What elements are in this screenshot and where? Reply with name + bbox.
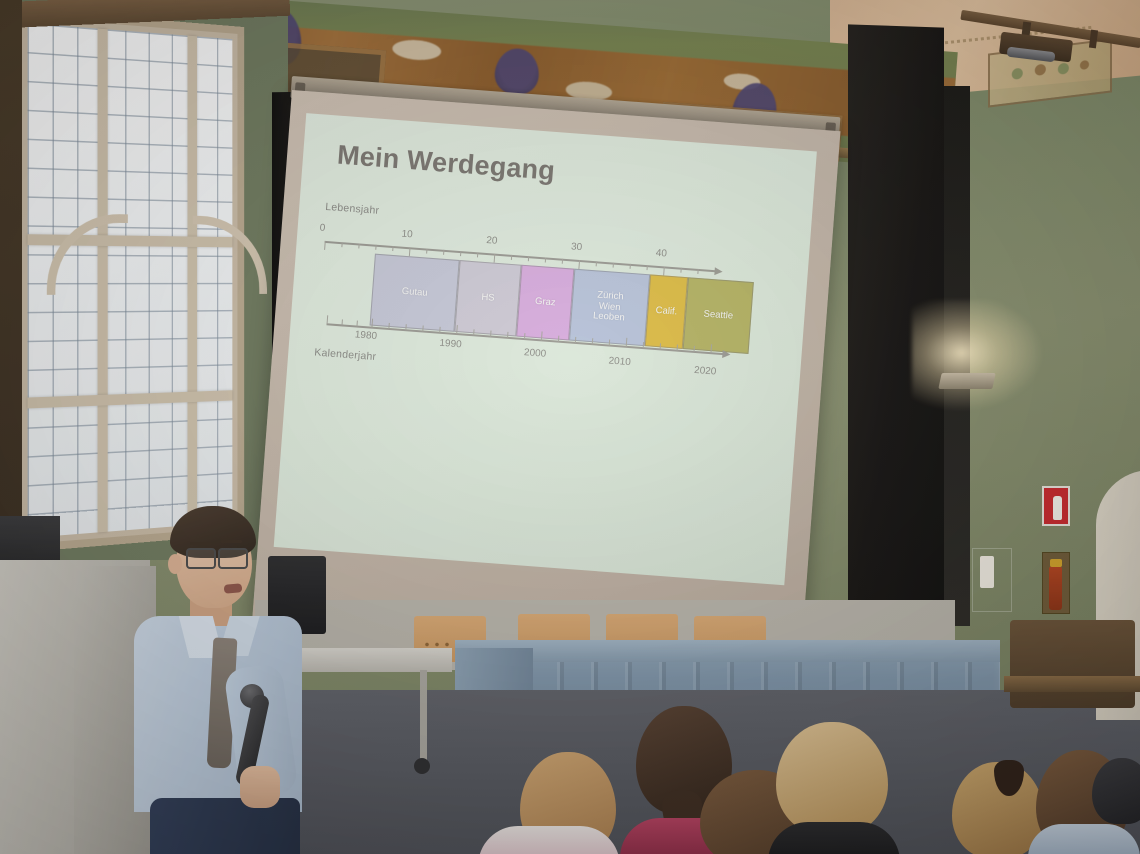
speaker [128, 498, 328, 854]
top-axis-tick-20 [494, 254, 496, 263]
top-axis-minor-tick [562, 259, 564, 264]
top-axis-tick-10 [409, 247, 411, 256]
top-axis-minor-tick [460, 251, 462, 256]
speaker-glasses-left-lens [186, 548, 216, 569]
speaker-ear [168, 554, 182, 574]
top-axis-title: Lebensjahr [325, 201, 380, 217]
wall-phone-handset [980, 556, 994, 588]
projection-screen: Mein Werdegang Lebensjahr 0 10 [252, 90, 840, 660]
top-axis-minor-tick [528, 256, 530, 261]
table-top-edge [455, 640, 1000, 662]
career-timeline-chart: Lebensjahr 0 10 20 [304, 200, 797, 425]
audience-shoulders [768, 822, 900, 854]
timeline-segment-zurich-wien-leoben: Zürich Wien Leoben [569, 269, 650, 346]
lecture-hall-photo: Mein Werdegang Lebensjahr 0 10 [0, 0, 1140, 854]
speaker-glasses-right-lens [218, 548, 248, 569]
top-axis-tick-0 [324, 241, 326, 250]
timeline-segment-hs: HS [454, 260, 521, 336]
top-axis-tick-30 [578, 260, 580, 269]
top-axis-tick-40 [663, 266, 665, 275]
speaker-trousers [150, 798, 300, 854]
slide-title: Mein Werdegang [336, 140, 556, 187]
trolley-leg [420, 670, 427, 762]
bottom-axis-label-1990: 1990 [439, 338, 462, 351]
top-axis-minor-tick [596, 261, 598, 266]
wall-sconce-lamp [938, 373, 995, 389]
top-axis-minor-tick [426, 249, 428, 254]
wooden-bench-seat [1004, 676, 1140, 692]
wooden-bench [1010, 620, 1135, 708]
audience-shoulders [478, 826, 620, 854]
top-axis-minor-tick [375, 245, 377, 250]
top-axis-minor-tick [392, 246, 394, 251]
bottom-axis-label-2020: 2020 [694, 365, 717, 378]
window-left-jamb [0, 0, 22, 560]
top-axis-label-30: 30 [571, 241, 583, 253]
bottom-axis-label-2010: 2010 [608, 356, 631, 369]
window-arch-decoration [193, 216, 267, 294]
speaker-mouth [224, 583, 243, 594]
top-axis-minor-tick [545, 257, 547, 262]
top-axis-label-20: 20 [486, 235, 498, 247]
top-axis-label-10: 10 [401, 229, 413, 241]
top-axis-minor-tick [646, 265, 648, 270]
audience-head [776, 722, 888, 834]
timeline-segment-graz: Graz [516, 265, 574, 341]
timeline-segment-gutau: Gutau [370, 254, 460, 332]
window [14, 8, 244, 553]
top-axis-label-40: 40 [655, 248, 667, 260]
fire-extinguisher-sign-icon [1042, 486, 1070, 526]
top-axis-minor-tick [341, 242, 343, 247]
wall-sconce-glow [912, 300, 1042, 410]
top-axis-minor-tick [630, 264, 632, 269]
top-axis-minor-tick [443, 250, 445, 255]
top-axis-minor-tick [511, 255, 513, 260]
speaker-eyebrow-right [220, 540, 242, 543]
top-axis-minor-tick [358, 243, 360, 248]
top-axis-label-0: 0 [319, 222, 325, 233]
presentation-slide: Mein Werdegang Lebensjahr 0 10 [274, 113, 817, 585]
top-axis-minor-tick [477, 252, 479, 257]
top-axis-minor-tick [613, 263, 615, 268]
top-axis-minor-tick [697, 269, 699, 274]
audience-shoulders [1028, 824, 1140, 854]
window-wall [0, 0, 288, 560]
bottom-axis-label-2000: 2000 [524, 347, 547, 360]
bottom-axis-title: Kalenderjahr [314, 346, 377, 363]
bottom-axis-label-1980: 1980 [354, 329, 377, 342]
trolley-caster [414, 758, 430, 774]
speaker-eyebrow-left [190, 542, 212, 545]
speaker-hand-holding-mic [240, 766, 280, 808]
timeline-segment-seattle: Seattle [683, 277, 754, 354]
timeline-segment-calif: Calif. [645, 274, 688, 349]
fire-extinguisher [1049, 566, 1062, 610]
top-axis-minor-tick [680, 268, 682, 273]
